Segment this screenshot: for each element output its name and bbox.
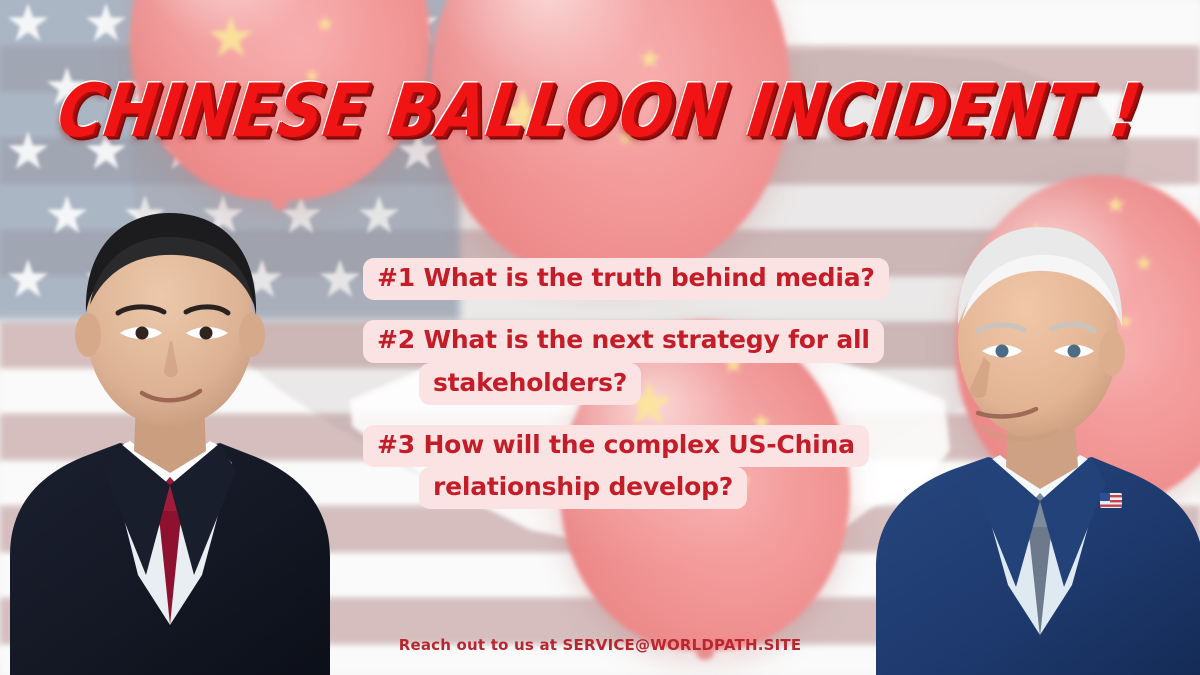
question-line: stakeholders? — [419, 363, 641, 405]
question-spacer — [363, 300, 883, 320]
page-title: CHINESE BALLOON INCIDENT ! — [53, 67, 1147, 153]
question-line: #3 How will the complex US-China — [363, 425, 869, 467]
footer-container: Reach out to us at SERVICE@WORLDPATH.SIT… — [0, 636, 1200, 655]
question-item-1: #1 What is the truth behind media? — [363, 258, 883, 300]
question-spacer — [363, 405, 883, 425]
us-flag-pin — [1100, 493, 1122, 508]
contact-email-text: Reach out to us at SERVICE@WORLDPATH.SIT… — [399, 636, 802, 654]
question-line: #1 What is the truth behind media? — [363, 258, 889, 300]
question-line: #2 What is the next strategy for all — [363, 320, 884, 362]
joe-biden-portrait — [860, 175, 1200, 675]
question-item-3: #3 How will the complex US-China relatio… — [363, 425, 883, 510]
questions-list: #1 What is the truth behind media? #2 Wh… — [363, 258, 883, 509]
title-container: CHINESE BALLOON INCIDENT ! — [0, 74, 1200, 147]
question-item-2: #2 What is the next strategy for all sta… — [363, 320, 883, 405]
xi-jinping-portrait — [0, 155, 370, 675]
poster-canvas: CHINESE BALLOON INCIDENT ! #1 What is th… — [0, 0, 1200, 675]
question-line: relationship develop? — [419, 467, 747, 509]
